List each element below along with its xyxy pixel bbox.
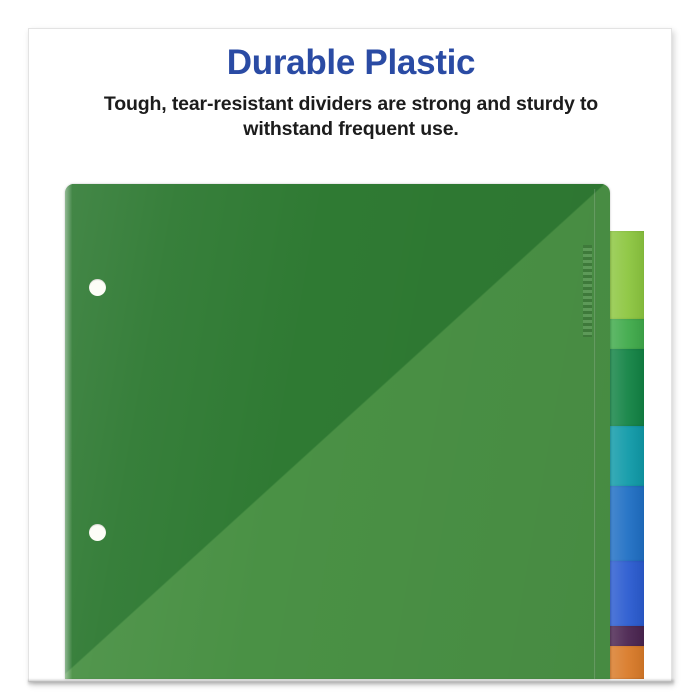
punch-hole-bottom — [89, 524, 106, 541]
punch-hole-top — [89, 279, 106, 296]
tab-1-light-green — [604, 231, 644, 319]
product-photo — [29, 149, 672, 682]
divider-sheet — [65, 184, 610, 679]
page-subtitle: Tough, tear-resistant dividers are stron… — [66, 92, 636, 142]
tab-6-royal-blue — [604, 561, 644, 626]
index-tab-stack — [604, 231, 644, 679]
headline-block: Durable Plastic Tough, tear-resistant di… — [29, 45, 672, 142]
tab-7-purple — [604, 626, 644, 646]
tab-5-blue — [604, 486, 644, 561]
page-title: Durable Plastic — [29, 45, 672, 82]
tab-3-dark-green — [604, 349, 644, 426]
tab-8-orange — [604, 646, 644, 679]
card-drop-shadow — [28, 680, 674, 686]
product-image-card: Durable Plastic Tough, tear-resistant di… — [28, 28, 672, 682]
tab-4-teal — [604, 426, 644, 486]
tab-2-green — [604, 319, 644, 349]
